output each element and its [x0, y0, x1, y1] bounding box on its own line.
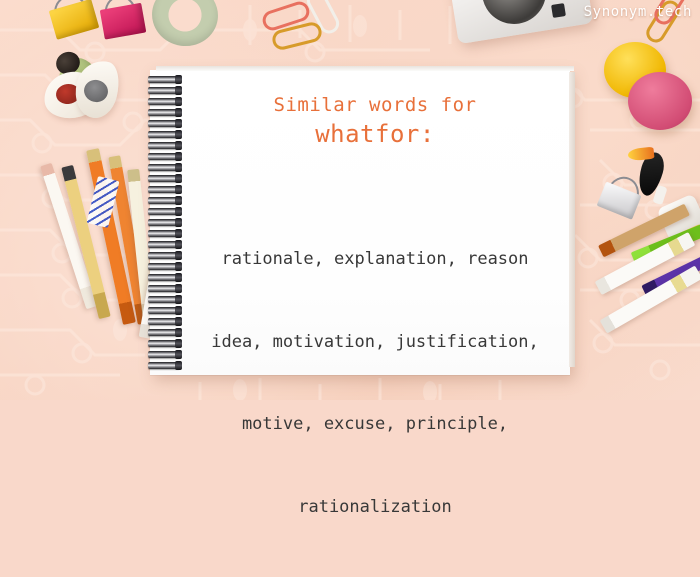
notepad-content: Similar words for whatfor: rationale, ex… [190, 95, 560, 577]
spiral-coil [148, 252, 180, 259]
binder-clip-body [100, 3, 147, 40]
spiral-coil [148, 153, 180, 160]
spiral-coil [148, 241, 180, 248]
synonym-line: rationale, explanation, reason [190, 246, 560, 274]
spiral-coil [148, 351, 180, 358]
spiral-coil [148, 263, 180, 270]
spiral-coil [148, 329, 180, 336]
synonym-line: idea, motivation, justification, [190, 329, 560, 357]
spiral-coil [148, 98, 180, 105]
camera-button [551, 3, 566, 18]
synonym-line: rationalization [190, 494, 560, 522]
spiral-binding [148, 76, 182, 372]
spiral-coil [148, 142, 180, 149]
spiral-coil [148, 340, 180, 347]
spiral-coil [148, 131, 180, 138]
spiral-coil [148, 208, 180, 215]
spiral-coil [148, 296, 180, 303]
spiral-coil [148, 285, 180, 292]
spiral-coil [148, 109, 180, 116]
spiral-coil [148, 164, 180, 171]
synonym-line: motive, excuse, principle, [190, 411, 560, 439]
page-title-prefix: Similar words for [190, 95, 560, 116]
spiral-coil [148, 219, 180, 226]
macaron-pink [628, 72, 692, 130]
spiral-coil [148, 120, 180, 127]
spiral-coil [148, 175, 180, 182]
spiral-coil [148, 197, 180, 204]
spiral-coil [148, 362, 180, 369]
synonym-list: rationale, explanation, reason idea, mot… [190, 191, 560, 576]
site-watermark: Synonym.tech [584, 4, 692, 20]
spiral-coil [148, 76, 180, 83]
spiral-coil [148, 307, 180, 314]
spiral-coil [148, 87, 180, 94]
page-title-word: whatfor: [190, 116, 560, 153]
spiral-coil [148, 186, 180, 193]
spiral-coil [148, 230, 180, 237]
spiral-coil [148, 274, 180, 281]
spiral-coil [148, 318, 180, 325]
